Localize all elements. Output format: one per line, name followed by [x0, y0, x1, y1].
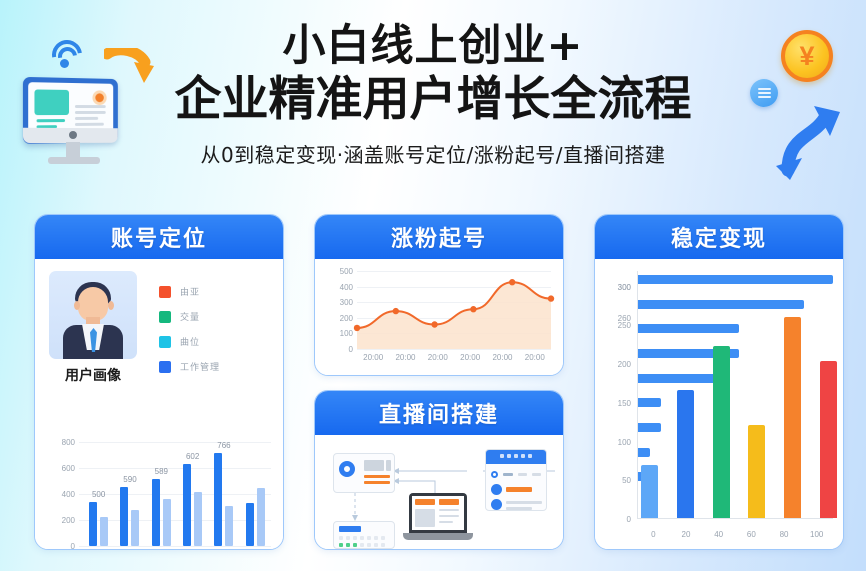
x-tick-label: 20:00	[454, 353, 486, 362]
horizontal-bar	[638, 374, 720, 383]
coin-symbol: ¥	[799, 43, 814, 70]
y-tick-label: 200	[43, 516, 75, 525]
y-tick-label: 800	[43, 438, 75, 447]
card-body: 500400300200100020:0020:0020:0020:0020:0…	[315, 259, 563, 376]
card-live-room-setup[interactable]: 直播间搭建	[314, 390, 564, 550]
y-tick-label: 200	[601, 360, 631, 369]
avatar-label: 用户画像	[45, 365, 141, 385]
legend-label: 曲位	[180, 335, 200, 348]
bar-value-label: 766	[205, 441, 243, 450]
subtitle: 从0到稳定变现·涵盖账号定位/涨粉起号/直播间搭建	[0, 139, 866, 168]
bar-value-label: 602	[174, 452, 212, 461]
avatar-legend-row: 用户画像 由亚 交量 曲位 工作管理	[35, 259, 283, 389]
card-title: 稳定变现	[671, 221, 767, 253]
list-panel	[485, 449, 547, 511]
legend-label: 交量	[180, 310, 200, 323]
legend-label: 由亚	[180, 285, 200, 298]
x-tick-label: 40	[702, 530, 735, 539]
x-axis: 20:0020:0020:0020:0020:0020:00	[357, 353, 551, 362]
line-series	[323, 265, 557, 365]
bar-value-label: 590	[111, 475, 149, 484]
title-line-2: 企业精准用户增长全流程	[0, 72, 866, 127]
y-tick-label: 50	[601, 476, 631, 485]
card-stable-monetization[interactable]: 稳定变现 30030026025020015010050002040608010…	[594, 214, 844, 550]
calendar-panel	[333, 521, 395, 549]
laptop	[403, 493, 473, 545]
horizontal-bar	[638, 423, 661, 432]
bar-secondary	[100, 517, 108, 546]
header: 小白线上创业+ 企业精准用户增长全流程 从0到稳定变现·涵盖账号定位/涨粉起号/…	[0, 0, 866, 205]
vertical-bar	[784, 317, 801, 519]
y-tick-label: 100	[601, 438, 631, 447]
card-header: 直播间搭建	[315, 391, 563, 435]
title-block: 小白线上创业+ 企业精准用户增长全流程 从0到稳定变现·涵盖账号定位/涨粉起号/…	[0, 22, 866, 168]
horizontal-bar	[638, 398, 661, 407]
card-body	[315, 435, 563, 550]
bar-group: 589	[148, 479, 174, 546]
x-tick-label: 60	[735, 530, 768, 539]
card-body: 300300260250200150100500020406080100	[595, 259, 843, 550]
y-tick-label: 0	[43, 542, 75, 550]
x-tick-label: 20:00	[357, 353, 389, 362]
card-follower-growth[interactable]: 涨粉起号 500400300200100020:0020:0020:0020:0…	[314, 214, 564, 376]
title-line-1: 小白线上创业+	[0, 22, 866, 70]
x-axis: 020406080100	[637, 530, 833, 539]
vertical-bar	[820, 361, 837, 518]
x-tick-label: 20:00	[519, 353, 551, 362]
bar-group: 500	[86, 502, 112, 546]
legend-item: 曲位	[159, 335, 273, 348]
x-tick-label: 100	[800, 530, 833, 539]
y-tick-label: 250	[601, 321, 631, 330]
card-title: 涨粉起号	[391, 221, 487, 253]
bar-primary	[89, 502, 97, 546]
grouped-bar-chart: 800600400200050059058960276620:0019:0019…	[43, 434, 277, 550]
card-account-positioning[interactable]: 账号定位 用户画像 由亚	[34, 214, 284, 550]
x-axis-line	[637, 518, 833, 519]
avatar	[49, 271, 137, 359]
legend-swatch	[159, 311, 171, 323]
bar-value-label: 589	[142, 467, 180, 476]
legend-swatch	[159, 336, 171, 348]
bar-group: 590	[117, 487, 143, 546]
bar-primary	[152, 479, 160, 546]
bar-secondary	[163, 499, 171, 546]
card-title: 账号定位	[111, 221, 207, 253]
legend-item: 工作管理	[159, 360, 273, 373]
horizontal-bar	[638, 324, 739, 333]
x-tick-label: 20:00	[422, 353, 454, 362]
bar-group: 602	[180, 464, 206, 546]
x-tick-label: 20:00	[486, 353, 518, 362]
area-line-chart: 500400300200100020:0020:0020:0020:0020:0…	[323, 265, 557, 371]
bar-primary	[246, 503, 254, 546]
card-header: 账号定位	[35, 215, 283, 259]
legend-label: 工作管理	[180, 360, 220, 373]
yen-coin-icon: ¥	[781, 30, 833, 82]
blue-double-curved-arrow-icon	[770, 100, 845, 180]
vertical-bar	[713, 346, 730, 518]
horizontal-bar	[638, 300, 804, 309]
combo-bar-chart: 300300260250200150100500020406080100	[601, 265, 839, 547]
bar-group	[242, 488, 268, 546]
gridline	[79, 546, 271, 547]
y-tick-label: 150	[601, 399, 631, 408]
bar-secondary	[257, 488, 265, 546]
bar-primary	[183, 464, 191, 546]
card-body: 用户画像 由亚 交量 曲位 工作管理	[35, 259, 283, 550]
dashboard-panel	[333, 453, 395, 493]
bar-value-label: 500	[80, 490, 118, 499]
x-tick-label: 20:00	[389, 353, 421, 362]
legend-item: 交量	[159, 310, 273, 323]
card-header: 涨粉起号	[315, 215, 563, 259]
x-tick-label: 0	[637, 530, 670, 539]
card-header: 稳定变现	[595, 215, 843, 259]
horizontal-bar	[638, 448, 650, 457]
x-tick-label: 20	[670, 530, 703, 539]
legend-swatch	[159, 361, 171, 373]
card-title: 直播间搭建	[379, 397, 499, 429]
chart-legend: 由亚 交量 曲位 工作管理	[141, 271, 273, 385]
bar-primary	[214, 453, 222, 546]
y-tick-label: 400	[43, 490, 75, 499]
vertical-bar	[748, 425, 765, 518]
y-tick-label: 300	[601, 283, 631, 292]
bar-group: 766	[211, 453, 237, 546]
legend-swatch	[159, 286, 171, 298]
y-tick-label: 600	[43, 464, 75, 473]
bar-primary	[120, 487, 128, 546]
live-room-diagram	[315, 435, 564, 550]
avatar-block: 用户画像	[45, 271, 141, 385]
x-tick-label: 80	[768, 530, 801, 539]
vertical-bar	[641, 465, 658, 518]
y-tick-label: 0	[601, 515, 631, 524]
vertical-bar	[677, 390, 694, 518]
bar-secondary	[194, 492, 202, 546]
bar-secondary	[225, 506, 233, 546]
plot-area: 500590589602766	[83, 442, 271, 546]
legend-item: 由亚	[159, 285, 273, 298]
horizontal-bar	[638, 275, 833, 284]
bar-secondary	[131, 510, 139, 546]
